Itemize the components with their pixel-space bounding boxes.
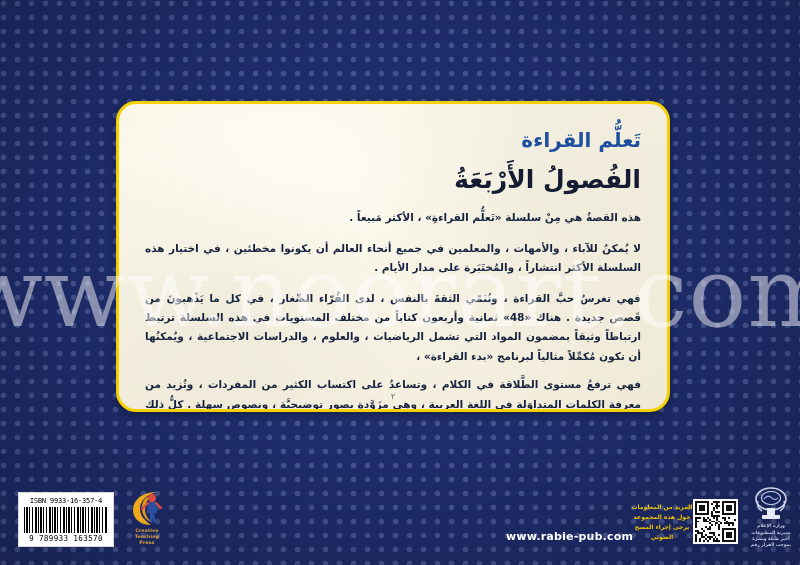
- qr-instructions-line-2: حول هذه المجموعة: [630, 513, 694, 523]
- qr-instructions-line-3: يرجى إجراء المسح: [630, 523, 694, 533]
- series-title: تَعلُّم القراءة: [145, 128, 641, 152]
- seal-caption-line-4: بموجب القرار رقم: [745, 543, 797, 549]
- ministry-seal-caption: وزارة الإعلام مديرية المطبوعات أجيزَ طبع…: [745, 524, 797, 549]
- isbn-label: ISBN 9933-16-357-4: [24, 497, 108, 505]
- paragraph: لا يُمكنُ للآباء ، والأمهات ، والمعلمين …: [145, 240, 641, 279]
- seal-caption-line-3: أجيزَ طبعُهُ ونشرُهُ: [745, 537, 797, 543]
- barcode-bars: [24, 507, 108, 533]
- qr-code[interactable]: [693, 499, 738, 544]
- book-back-cover: تَعلُّم القراءة الفُصولُ الأَرْبَعَةُ هذ…: [0, 0, 800, 565]
- seal-caption-line-2: مديرية المطبوعات: [745, 531, 797, 537]
- publisher-logo-line-3: Press: [120, 541, 174, 547]
- crescent-moon-icon: [127, 489, 167, 527]
- description-body: هذه القصةُ هي مِنْ سلسلة «تَعلُّم القراء…: [145, 209, 641, 412]
- qr-instructions-line-1: المزيد من المعلومات: [630, 503, 694, 513]
- isbn-barcode: ISBN 9933-16-357-4 9 789933 163570: [18, 492, 114, 547]
- website-url[interactable]: www.rabie-pub.com: [506, 530, 633, 543]
- ministry-seal: وزارة الإعلام مديرية المطبوعات أجيزَ طبع…: [745, 485, 797, 549]
- footer-bar: ISBN 9933-16-357-4 9 789933 163570 Creat…: [0, 470, 800, 565]
- qr-code-matrix: [695, 501, 736, 542]
- isbn-digits: 9 789933 163570: [24, 534, 108, 543]
- publisher-logo-caption: Creative Teaching Press: [120, 529, 174, 548]
- qr-instructions-line-4: الضوئي: [630, 533, 694, 543]
- page-title: الفُصولُ الأَرْبَعَةُ: [145, 164, 641, 195]
- page-number: ٢: [391, 392, 395, 401]
- paragraph: هذه القصةُ هي مِنْ سلسلة «تَعلُّم القراء…: [145, 209, 641, 228]
- paragraph: فهي تغرسُ حبَّ القراءة ، وتُنَمّي الثقةَ…: [145, 290, 641, 368]
- publisher-logo: Creative Teaching Press: [120, 489, 174, 545]
- seal-icon: [751, 485, 791, 523]
- qr-instructions: المزيد من المعلومات حول هذه المجموعة يرج…: [630, 503, 694, 543]
- description-card: تَعلُّم القراءة الفُصولُ الأَرْبَعَةُ هذ…: [116, 101, 670, 412]
